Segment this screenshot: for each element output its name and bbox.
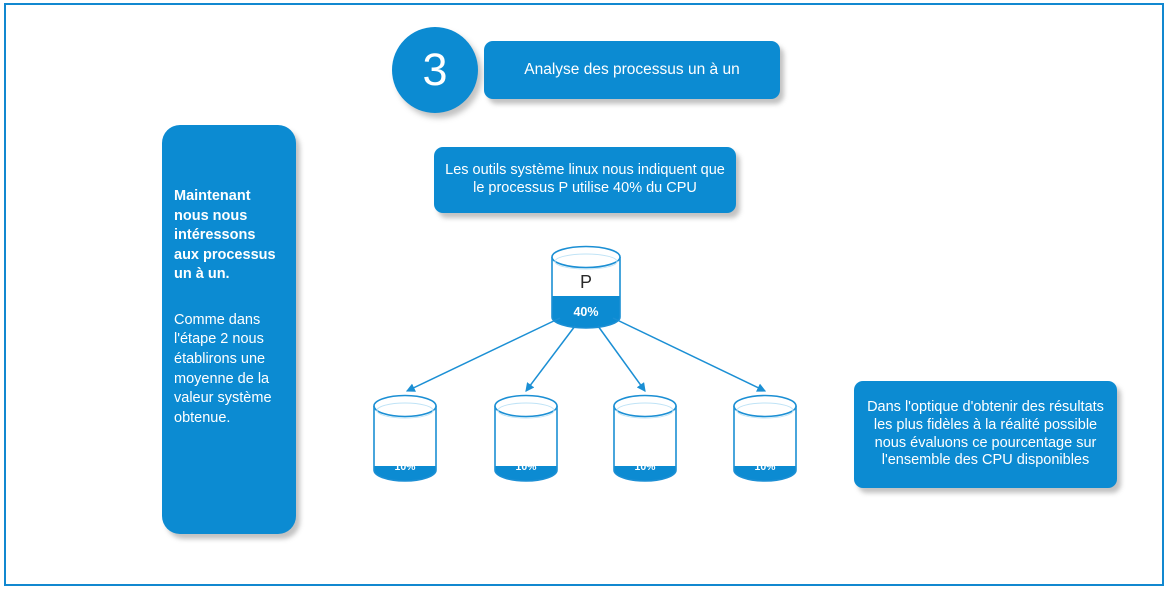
- cpu-cylinder-3: 10%: [613, 394, 677, 482]
- cpu-cylinder-4: 10%: [733, 394, 797, 482]
- cpu-coverage-note: Dans l'optique d'obtenir des résultats l…: [854, 381, 1117, 488]
- left-panel-body: Comme dans l'étape 2 nous établirons une…: [174, 311, 284, 428]
- arrow-to-cylinder-1: [407, 318, 560, 391]
- slide-canvas: 3 Analyse des processus un à un Maintena…: [0, 0, 1169, 592]
- linux-tools-note: Les outils système linux nous indiquent …: [434, 147, 736, 213]
- cylinder-shape-icon: [733, 394, 797, 482]
- process-cylinder-main: P 40%: [551, 246, 621, 328]
- arrow-to-cylinder-4: [613, 318, 765, 391]
- arrow-to-cylinder-3: [598, 326, 645, 391]
- linux-tools-note-text: Les outils système linux nous indiquent …: [440, 162, 730, 197]
- arrow-to-cylinder-2: [526, 326, 575, 391]
- cpu-cylinder-1: 10%: [373, 394, 437, 482]
- left-panel-headline: Maintenant nous nous intéressons aux pro…: [174, 187, 284, 285]
- cylinder-shape-icon: [494, 394, 558, 482]
- step-number-badge: 3: [392, 27, 478, 113]
- cylinder-shape-icon: [373, 394, 437, 482]
- cpu-coverage-note-text: Dans l'optique d'obtenir des résultats l…: [861, 399, 1110, 470]
- cylinder-shape-icon: [551, 246, 621, 328]
- page-title: Analyse des processus un à un: [524, 61, 739, 80]
- slide-title-banner: Analyse des processus un à un: [484, 41, 780, 99]
- cpu-cylinder-2: 10%: [494, 394, 558, 482]
- left-info-panel: Maintenant nous nous intéressons aux pro…: [162, 125, 296, 534]
- cylinder-shape-icon: [613, 394, 677, 482]
- step-number-text: 3: [422, 44, 447, 96]
